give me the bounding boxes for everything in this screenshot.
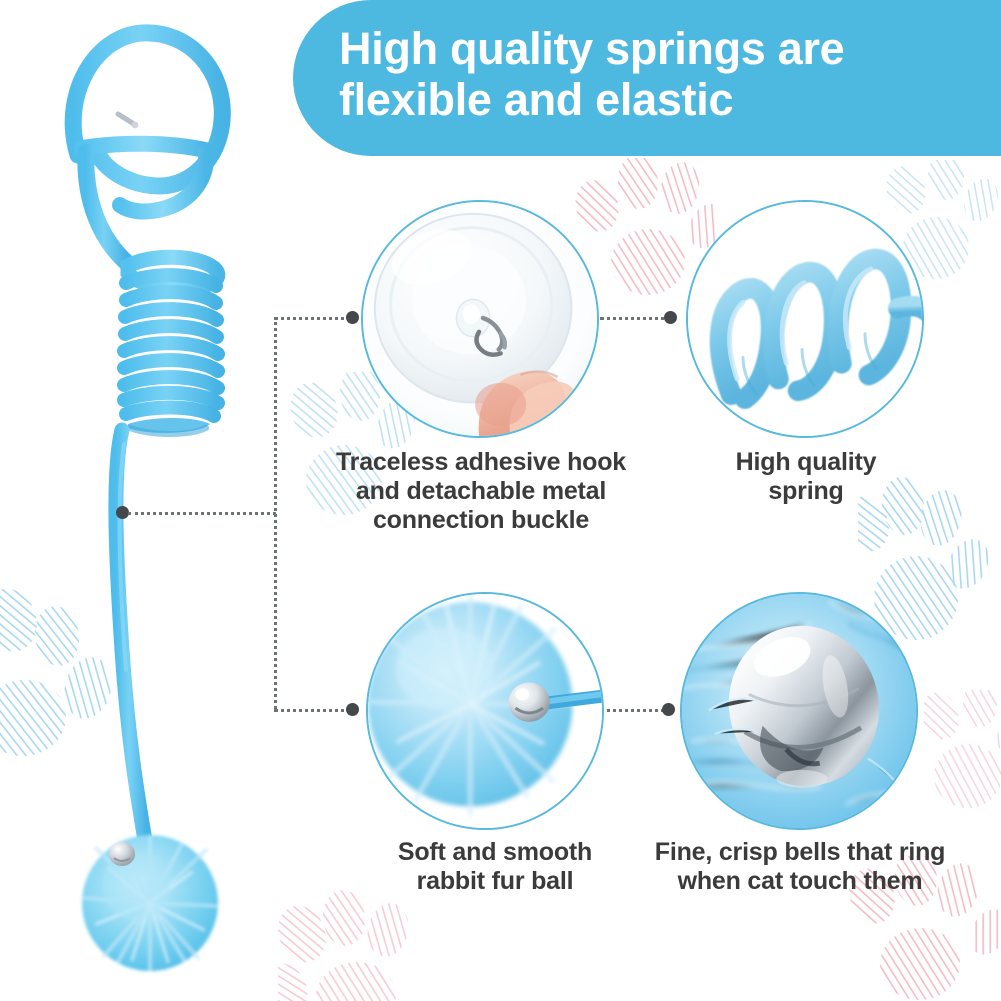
connector-dot-furball (346, 703, 359, 716)
photo-bells (682, 594, 916, 828)
connector-dot-bells (662, 703, 675, 716)
paw-print-decor-pink-right (924, 690, 1001, 820)
banner-title: High quality springs are flexible and el… (339, 24, 844, 126)
feature-photo-adhesive-hook (361, 200, 599, 438)
caption-fur-ball: Soft and smooth rabbit fur ball (350, 838, 640, 896)
connector-line-hook-spring (600, 317, 672, 320)
connector-dot-spring (664, 311, 677, 324)
feature-photo-bells (680, 592, 918, 830)
feature-photo-spring (686, 200, 924, 438)
connector-dot-hook (346, 311, 359, 324)
photo-fur-ball (368, 594, 602, 828)
caption-spring: High quality spring (690, 448, 922, 506)
connector-line-furball-bells (600, 709, 670, 712)
caption-adhesive-hook: Traceless adhesive hook and detachable m… (320, 448, 642, 535)
caption-bells: Fine, crisp bells that ring when cat tou… (640, 838, 960, 896)
header-banner: High quality springs are flexible and el… (293, 0, 1001, 156)
feature-photo-fur-ball (366, 592, 604, 830)
product-photo (0, 0, 300, 1001)
infographic-canvas: High quality springs are flexible and el… (0, 0, 1001, 1001)
photo-spring (688, 202, 922, 436)
photo-adhesive-hook (363, 202, 597, 436)
